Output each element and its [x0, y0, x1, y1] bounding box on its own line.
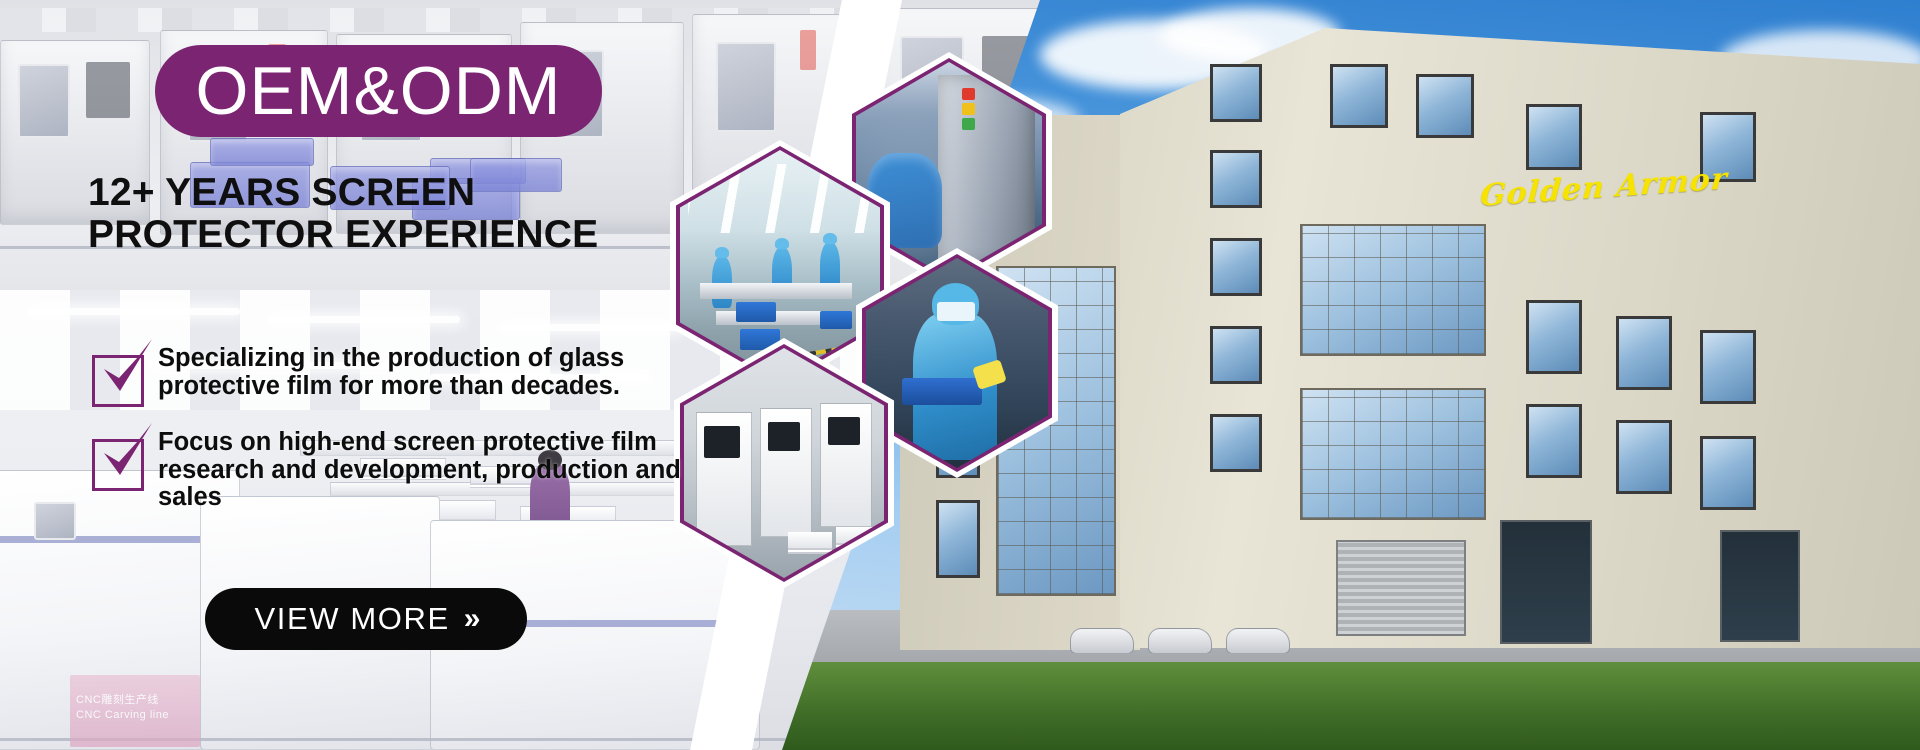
banner-copy-block: OEM&ODM 12+ YEARS SCREEN PROTECTOR EXPER… — [0, 0, 760, 750]
oem-odm-badge: OEM&ODM — [155, 45, 602, 137]
view-more-button[interactable]: VIEW MORE » — [205, 588, 527, 650]
chevron-double-right-icon: » — [464, 604, 478, 634]
list-item-label: Specializing in the production of glass … — [158, 345, 710, 400]
feature-bullet-list: Specializing in the production of glass … — [90, 345, 710, 534]
list-item: Specializing in the production of glass … — [90, 345, 710, 407]
purple-checkbox-check-icon — [90, 433, 148, 491]
purple-checkbox-check-icon — [90, 349, 148, 407]
list-item-label: Focus on high-end screen protective film… — [158, 429, 710, 512]
company-oem-odm-banner: CNC雕刻生产线 CNC Carving line — [0, 0, 1920, 750]
view-more-label: VIEW MORE — [255, 601, 450, 637]
page-title: 12+ YEARS SCREEN PROTECTOR EXPERIENCE — [88, 172, 688, 256]
list-item: Focus on high-end screen protective film… — [90, 429, 710, 512]
oem-odm-badge-label: OEM&ODM — [196, 57, 562, 125]
